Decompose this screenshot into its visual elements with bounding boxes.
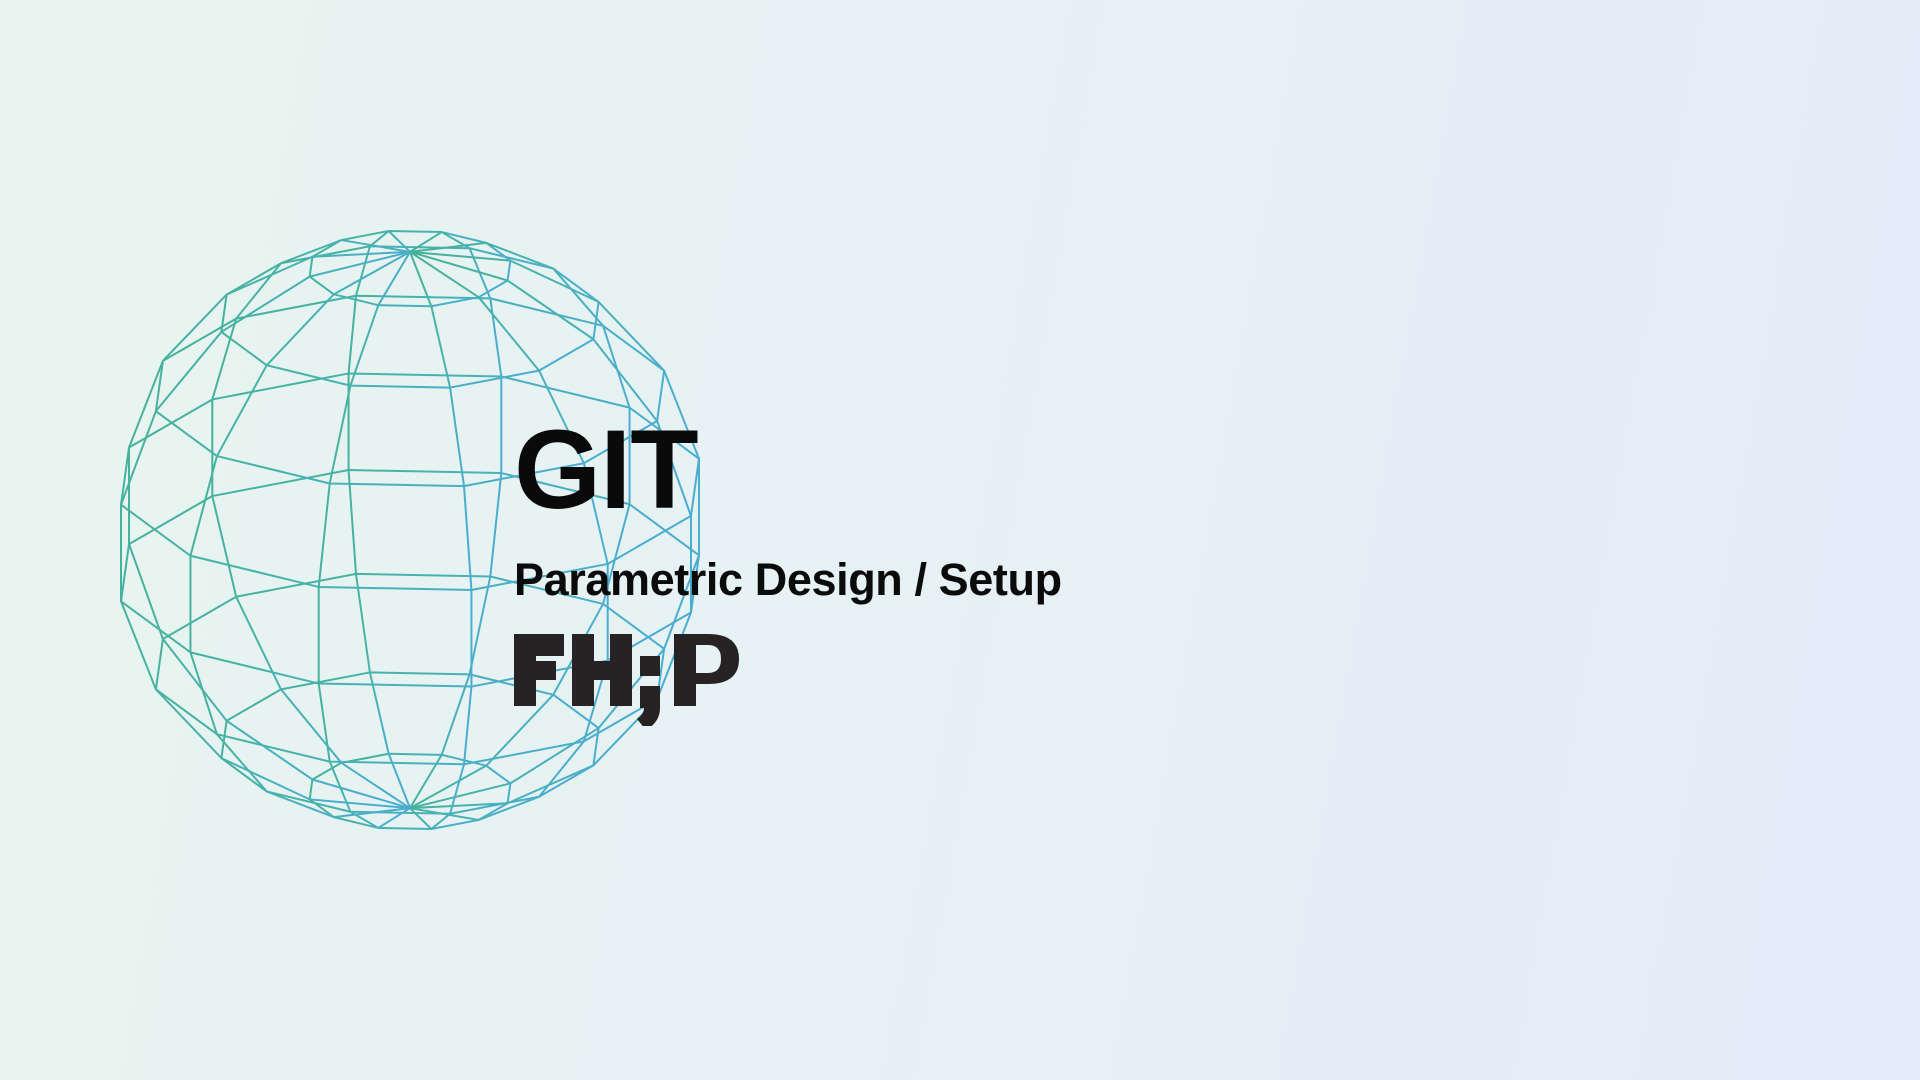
wireframe-edge [221,246,598,387]
brand-logo-svg [514,630,764,726]
wireframe-edge [129,252,410,808]
brand-logo-fhp [514,630,1414,726]
wireframe-edge [310,231,511,306]
wireframe-edge [410,232,501,808]
brand-glyph-part [514,661,556,680]
page-title: GIT [514,418,1414,521]
slide-canvas: GIT Parametric Design / Setup [0,0,1920,1080]
wireframe-edge [212,240,410,808]
wireframe-edge [190,252,410,817]
brand-glyph-part [514,634,564,656]
brand-glyph-part [674,634,739,684]
brand-glyph-group [514,634,739,726]
wireframe-edge [319,252,410,828]
wireframe-edge [121,252,410,808]
brand-glyph-part [640,656,660,676]
brand-glyph-part [637,686,660,726]
wireframe-edge [410,252,471,829]
wireframe-edge [310,754,511,829]
wireframe-edge [349,231,410,808]
brand-glyph-part [572,661,632,680]
page-subtitle: Parametric Design / Setup [514,557,1414,602]
text-block: GIT Parametric Design / Setup [514,418,1414,726]
